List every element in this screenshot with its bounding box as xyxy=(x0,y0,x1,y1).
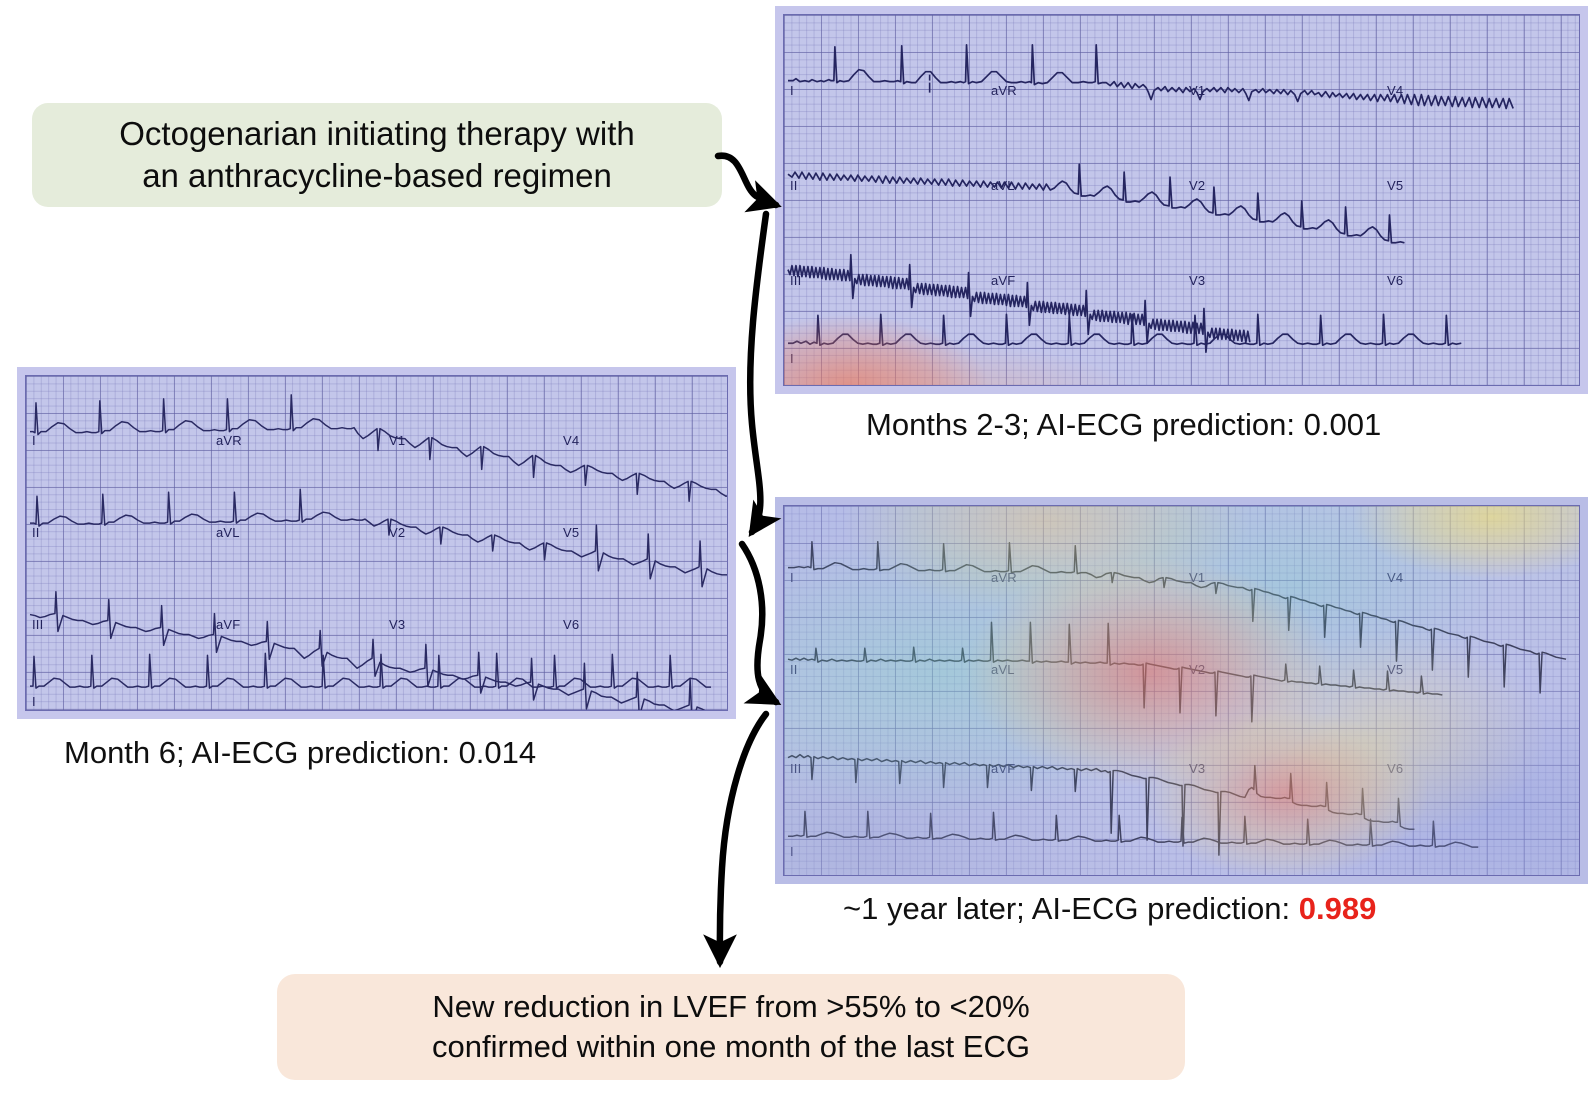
arrow-ecg-top-to-ecg-left xyxy=(750,214,766,532)
caption-one-year-later: ~1 year later; AI-ECG prediction: 0.989 xyxy=(843,891,1376,927)
ecg-paper-months-2-3: I aVR V1 V4 II aVL V2 V5 III aVF V3 V6 I xyxy=(783,14,1580,386)
ecg-trace-one-year-later xyxy=(784,506,1579,875)
callout-lvef-outcome-line2: confirmed within one month of the last E… xyxy=(432,1027,1030,1067)
ecg-trace-month-6 xyxy=(26,376,727,710)
caption-one-year-later-value: 0.989 xyxy=(1299,891,1377,926)
ecg-paper-month-6: I aVR V1 V4 II aVL V2 V5 III aVF V3 V6 I xyxy=(25,375,728,711)
callout-lvef-outcome: New reduction in LVEF from >55% to <20% … xyxy=(277,974,1185,1080)
ecg-trace-months-2-3 xyxy=(784,15,1579,385)
arrow-ecg-left-to-ecg-bottom xyxy=(742,544,776,702)
caption-months-2-3: Months 2-3; AI-ECG prediction: 0.001 xyxy=(866,407,1381,443)
caption-one-year-later-prefix: ~1 year later; AI-ECG prediction: xyxy=(843,891,1299,926)
callout-therapy-start-line1: Octogenarian initiating therapy with xyxy=(119,113,634,155)
callout-therapy-start: Octogenarian initiating therapy with an … xyxy=(32,103,722,207)
ecg-panel-one-year-later: I aVR V1 V4 II aVL V2 V5 III aVF V3 V6 I xyxy=(775,497,1588,884)
caption-month-6: Month 6; AI-ECG prediction: 0.014 xyxy=(64,735,536,771)
callout-therapy-start-line2: an anthracycline-based regimen xyxy=(142,155,612,197)
figure-canvas: Octogenarian initiating therapy with an … xyxy=(0,0,1596,1110)
arrow-ecg-bottom-to-outcome xyxy=(720,714,766,962)
ecg-paper-one-year-later: I aVR V1 V4 II aVL V2 V5 III aVF V3 V6 I xyxy=(783,505,1580,876)
ecg-panel-month-6: I aVR V1 V4 II aVL V2 V5 III aVF V3 V6 I xyxy=(17,367,736,719)
callout-lvef-outcome-line1: New reduction in LVEF from >55% to <20% xyxy=(432,987,1029,1027)
ecg-panel-months-2-3: I aVR V1 V4 II aVL V2 V5 III aVF V3 V6 I xyxy=(775,6,1588,394)
arrow-start-to-ecg-top xyxy=(718,156,776,205)
